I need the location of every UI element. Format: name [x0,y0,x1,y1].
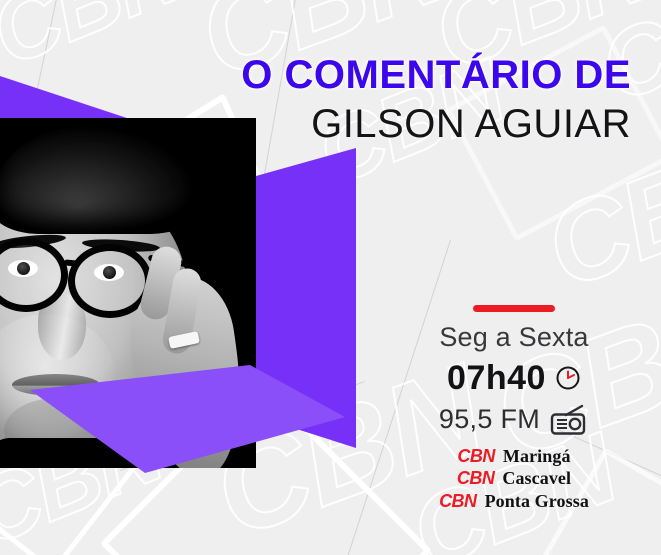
station-city: Maringá [503,445,571,468]
program-title: O COMENTÁRIO DE GILSON AGUIAR [241,52,631,148]
cbn-logo-text: CBN [457,445,495,468]
broadcast-frequency-row: 95,5 FM [399,404,629,436]
list-item: CBN Cascavel [399,467,629,490]
cbn-logo-text: CBN [457,467,495,490]
schedule-info-block: Seg a Sexta 07h40 95,5 FM [399,305,629,513]
cbn-logo-text: CBN [439,490,477,513]
station-list: CBN Maringá CBN Cascavel CBN Ponta Gross… [399,445,629,513]
radio-program-banner: CBN CBN CBN CBN CBN CBN CBN CBN CBN CBN [0,0,661,555]
broadcast-time-row: 07h40 [399,359,629,398]
station-city: Ponta Grossa [485,490,589,513]
red-divider [473,305,555,312]
broadcast-time: 07h40 [447,359,546,398]
broadcast-frequency: 95,5 FM [439,404,540,435]
list-item: CBN Maringá [399,445,629,468]
clock-icon [555,365,581,391]
radio-icon [549,404,589,436]
title-line-host-name: GILSON AGUIAR [241,100,631,148]
list-item: CBN Ponta Grossa [399,490,629,513]
station-city: Cascavel [502,467,571,490]
broadcast-days: Seg a Sexta [399,323,629,353]
title-line-primary: O COMENTÁRIO DE [241,52,631,98]
